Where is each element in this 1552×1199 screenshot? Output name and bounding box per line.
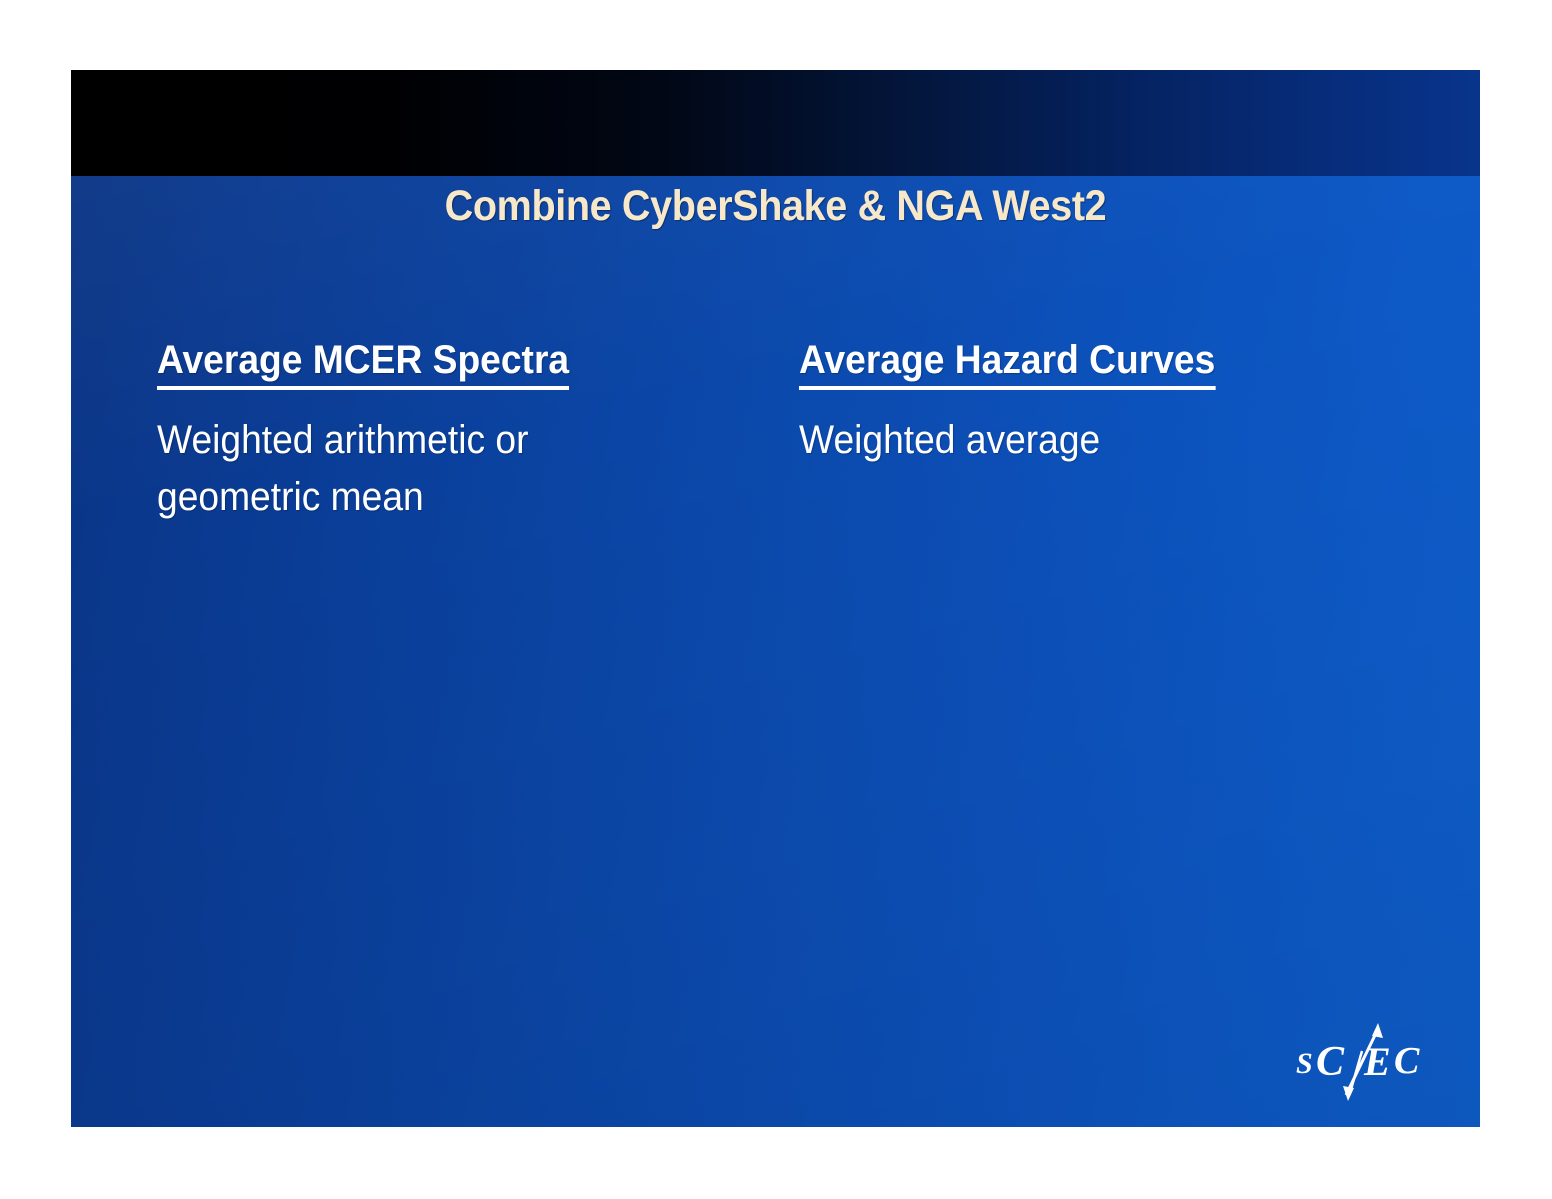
scec-arrowhead-down [1343, 1086, 1354, 1101]
scec-logo-letter-c1: C [1316, 1039, 1345, 1085]
column-heading-average-hazard-curves: Average Hazard Curves [799, 338, 1215, 390]
column-heading-average-mcer-spectra: Average MCER Spectra [157, 338, 569, 390]
scec-logo-letter-c2: C [1394, 1040, 1420, 1082]
scec-arrowhead-up [1372, 1023, 1383, 1038]
scec-logo-letter-s: S [1296, 1047, 1313, 1080]
scec-logo-graphic: S C E C [1290, 1011, 1440, 1107]
scec-logo-letter-e: E [1363, 1039, 1391, 1084]
header-band [71, 70, 1480, 176]
column-body-average-hazard-curves: Weighted average [799, 412, 1320, 469]
scec-fault-line-secondary [1350, 1051, 1362, 1093]
content-column-left: Average MCER Spectra Weighted arithmetic… [157, 338, 717, 526]
column-body-average-mcer-spectra: Weighted arithmetic or geometric mean [157, 412, 678, 526]
scec-logo: S C E C [1290, 1011, 1440, 1107]
slide-canvas: Combine CyberShake & NGA West2 Average M… [71, 70, 1480, 1127]
slide-title: Combine CyberShake & NGA West2 [127, 182, 1423, 231]
content-column-right: Average Hazard Curves Weighted average [799, 338, 1359, 469]
